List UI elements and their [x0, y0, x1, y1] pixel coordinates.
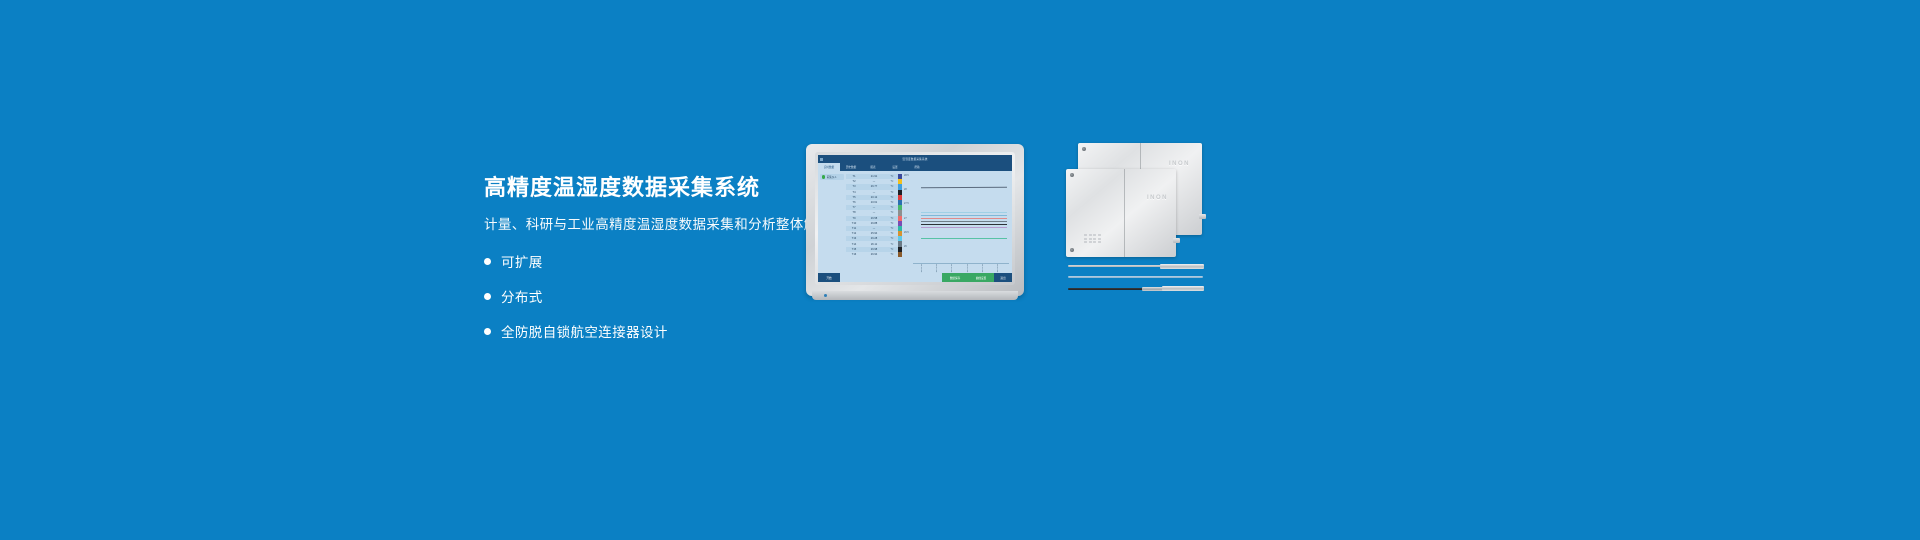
x-tick-label: 16:22:30 [982, 264, 984, 273]
cell-unit: ℃ [886, 180, 898, 183]
cell-channel: T13 [846, 237, 862, 240]
start-button[interactable]: 开始 [818, 273, 840, 282]
tab-report[interactable]: 报表 [862, 163, 884, 171]
cell-channel: T16 [846, 253, 862, 256]
cell-channel: T1 [846, 175, 862, 178]
cell-value: --- [862, 191, 886, 194]
bullet-icon [484, 328, 491, 335]
x-tick-label: 16:22:00 [967, 264, 969, 273]
cell-value: --- [862, 227, 886, 230]
cell-value: 26.11 [862, 243, 886, 246]
brand-logo: INON [1147, 195, 1168, 201]
device-label: 采集仪-1 [827, 175, 837, 179]
cell-value: 25.94 [862, 232, 886, 235]
x-tick-label: 16:20:30 [921, 264, 923, 273]
blue-cable-probe [1068, 275, 1203, 279]
connector-port [1173, 238, 1180, 243]
cell-unit: ℃ [886, 196, 898, 199]
bullet-icon [484, 293, 491, 300]
app-tab-bar: 实时数据 历史数据 报表 设置 帮助 [818, 163, 1012, 171]
rigid-temperature-probe [1068, 263, 1203, 269]
chart-y-axis: 28.52827.52726.526 [904, 174, 913, 259]
chart-x-axis: 16:20:3016:21:0016:21:3016:22:0016:22:30… [913, 264, 1009, 273]
app-window-title: 温湿度数据采集系统 [902, 157, 927, 161]
screw-icon [1082, 147, 1086, 151]
monitor-base [812, 291, 1018, 300]
status-online-icon [822, 175, 826, 179]
chart-series-line [921, 227, 1007, 228]
cell-channel: T3 [846, 185, 862, 188]
y-tick-label: 28 [904, 188, 907, 191]
chart-series-line [921, 221, 1007, 222]
bullet-icon [484, 258, 491, 265]
power-led-icon [824, 294, 827, 297]
cell-unit: ℃ [886, 253, 898, 256]
y-tick-label: 27 [904, 217, 907, 220]
cell-unit: ℃ [886, 243, 898, 246]
cell-value: 26.88 [862, 222, 886, 225]
cell-unit: ℃ [886, 191, 898, 194]
cell-unit: ℃ [886, 206, 898, 209]
cell-unit: ℃ [886, 232, 898, 235]
chart-series-line [921, 238, 1007, 239]
cell-value: --- [862, 211, 886, 214]
y-tick-label: 28.5 [904, 174, 909, 177]
monitor-screen: 温湿度数据采集系统 实时数据 历史数据 报表 设置 帮助 采集仪-1 T121.… [818, 155, 1012, 282]
cell-unit: ℃ [886, 248, 898, 251]
chart-series-line [921, 218, 1007, 219]
feature-label: 分布式 [501, 286, 543, 306]
list-item: 全防脱自锁航空连接器设计 [484, 321, 954, 341]
device-tree-panel: 采集仪-1 [818, 171, 846, 273]
hamburger-icon[interactable] [820, 158, 823, 161]
curve-settings-button[interactable]: 曲线设置 [968, 273, 994, 282]
cell-channel: T2 [846, 180, 862, 183]
chart-series-line [921, 224, 1007, 225]
cell-unit: ℃ [886, 227, 898, 230]
save-data-button[interactable]: 数据保存 [942, 273, 968, 282]
cell-value: 20.61 [862, 201, 886, 204]
vent-grid-icon [1084, 234, 1101, 243]
cell-channel: T15 [846, 248, 862, 251]
table-row[interactable]: T1626.94℃ [846, 252, 898, 257]
brand-logo: INON [1169, 161, 1190, 167]
cell-unit: ℃ [886, 222, 898, 225]
panel-seam [1124, 169, 1125, 257]
cell-value: 26.98 [862, 248, 886, 251]
screw-icon [1070, 248, 1074, 252]
screw-icon [1070, 173, 1074, 177]
panel-monitor: 温湿度数据采集系统 实时数据 历史数据 报表 设置 帮助 采集仪-1 T121.… [806, 144, 1024, 296]
x-tick-label: 16:21:00 [936, 264, 938, 273]
footer-spacer [840, 273, 942, 282]
data-logger-front-enclosure: INON [1066, 169, 1176, 257]
cell-channel: T6 [846, 201, 862, 204]
y-tick-label: 26.5 [904, 231, 909, 234]
feature-label: 可扩展 [501, 251, 543, 271]
chart-series-line [921, 187, 1007, 188]
tab-settings[interactable]: 设置 [884, 163, 906, 171]
cell-channel: T10 [846, 222, 862, 225]
cell-channel: T14 [846, 243, 862, 246]
cell-unit: ℃ [886, 201, 898, 204]
cell-channel: T9 [846, 217, 862, 220]
trend-chart: 28.52827.52726.526 16:20:3016:21:0016:21… [902, 171, 1012, 273]
cell-value: 26.77 [862, 185, 886, 188]
feature-label: 全防脱自锁航空连接器设计 [501, 321, 668, 341]
black-cable-humidity-probe [1068, 285, 1204, 293]
cell-channel: T11 [846, 227, 862, 230]
cell-value: --- [862, 206, 886, 209]
cell-unit: ℃ [886, 217, 898, 220]
cell-value: 20.12 [862, 196, 886, 199]
app-body: 采集仪-1 T121.91℃T2---℃T326.77℃T4---℃T520.1… [818, 171, 1012, 273]
app-title-bar: 温湿度数据采集系统 [818, 155, 1012, 163]
cell-unit: ℃ [886, 185, 898, 188]
cell-value: --- [862, 180, 886, 183]
cell-value: 26.28 [862, 237, 886, 240]
cell-value: 26.94 [862, 253, 886, 256]
tab-help[interactable]: 帮助 [906, 163, 928, 171]
chart-series-line [921, 215, 1007, 216]
cell-channel: T5 [846, 196, 862, 199]
x-tick-label: 16:23:00 [997, 264, 999, 273]
cell-channel: T4 [846, 191, 862, 194]
tab-realtime[interactable]: 实时数据 [818, 163, 840, 171]
channel-table: T121.91℃T2---℃T326.77℃T4---℃T520.12℃T620… [846, 171, 898, 273]
cell-unit: ℃ [886, 211, 898, 214]
cell-value: 26.58 [862, 217, 886, 220]
hardware-group: INON INON [1066, 143, 1206, 298]
tab-history[interactable]: 历史数据 [840, 163, 862, 171]
cell-channel: T8 [846, 211, 862, 214]
cell-channel: T7 [846, 206, 862, 209]
exit-button[interactable]: 退出 [994, 273, 1012, 282]
y-tick-label: 26 [904, 245, 907, 248]
x-tick-label: 16:21:30 [951, 264, 953, 273]
chart-plot-area [913, 174, 1009, 259]
cell-channel: T12 [846, 232, 862, 235]
cell-value: 21.91 [862, 175, 886, 178]
device-tree-item[interactable]: 采集仪-1 [820, 174, 844, 180]
connector-port [1199, 214, 1206, 219]
chart-series-line [921, 212, 1007, 213]
y-tick-label: 27.5 [904, 202, 909, 205]
app-footer-toolbar: 开始 数据保存 曲线设置 退出 [818, 273, 1012, 282]
product-banner: 高精度温湿度数据采集系统 计量、科研与工业高精度温湿度数据采集和分析整体解决方案… [0, 0, 1920, 540]
cell-unit: ℃ [886, 237, 898, 240]
cell-unit: ℃ [886, 175, 898, 178]
